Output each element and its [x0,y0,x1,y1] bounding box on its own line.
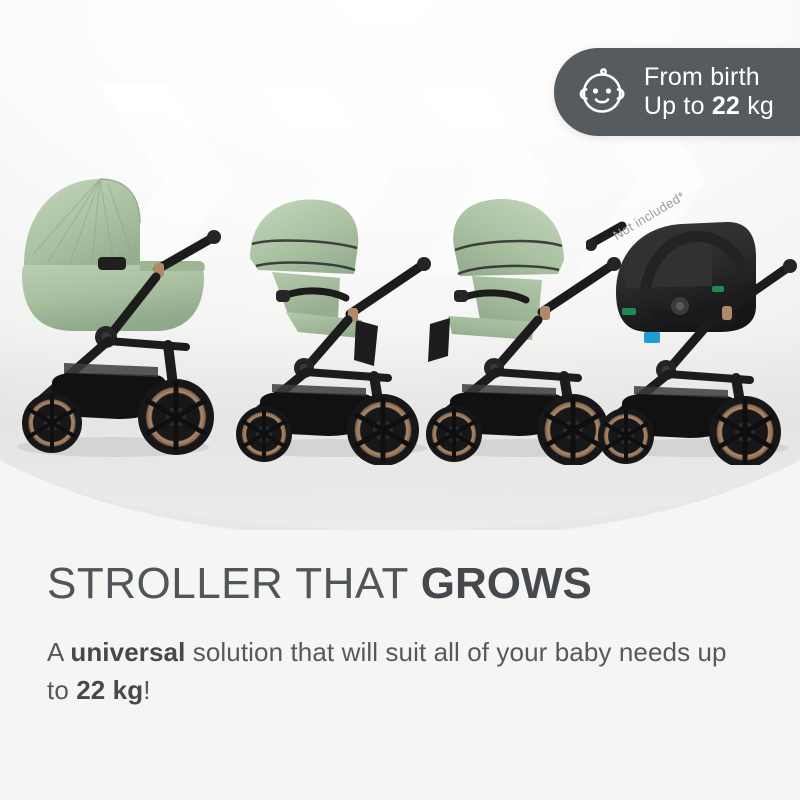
badge-weight-value: 22 [712,92,740,120]
headline-bold: GROWS [421,559,592,608]
subcopy-part3: ! [143,675,150,705]
headline-light: STROLLER THAT [47,559,421,608]
from-birth-badge: From birth Up to 22 kg [554,48,800,136]
marketing-text-block: STROLLER THAT GROWS A universal solution… [47,560,753,710]
badge-weight-unit: kg [740,92,774,120]
subcopy-bold-universal: universal [70,637,185,667]
subcopy-bold-weight: 22 kg [76,675,143,705]
page-subtitle: A universal solution that will suit all … [47,634,753,709]
product-feature-banner: Not included* From birth Up to 22 kg [0,0,800,800]
baby-face-icon [574,64,630,120]
stroller-carrycot[interactable] [8,165,228,465]
badge-text: From birth Up to 22 kg [644,63,774,121]
page-title: STROLLER THAT GROWS [47,560,753,608]
product-photo-panel: Not included* From birth Up to 22 kg [0,0,800,530]
badge-line-weight: Up to 22 kg [644,92,774,121]
stroller-seat-rear-facing[interactable] [228,190,438,465]
badge-line-from-birth: From birth [644,63,774,92]
badge-weight-prefix: Up to [644,92,712,120]
subcopy-part1: A [47,637,70,667]
